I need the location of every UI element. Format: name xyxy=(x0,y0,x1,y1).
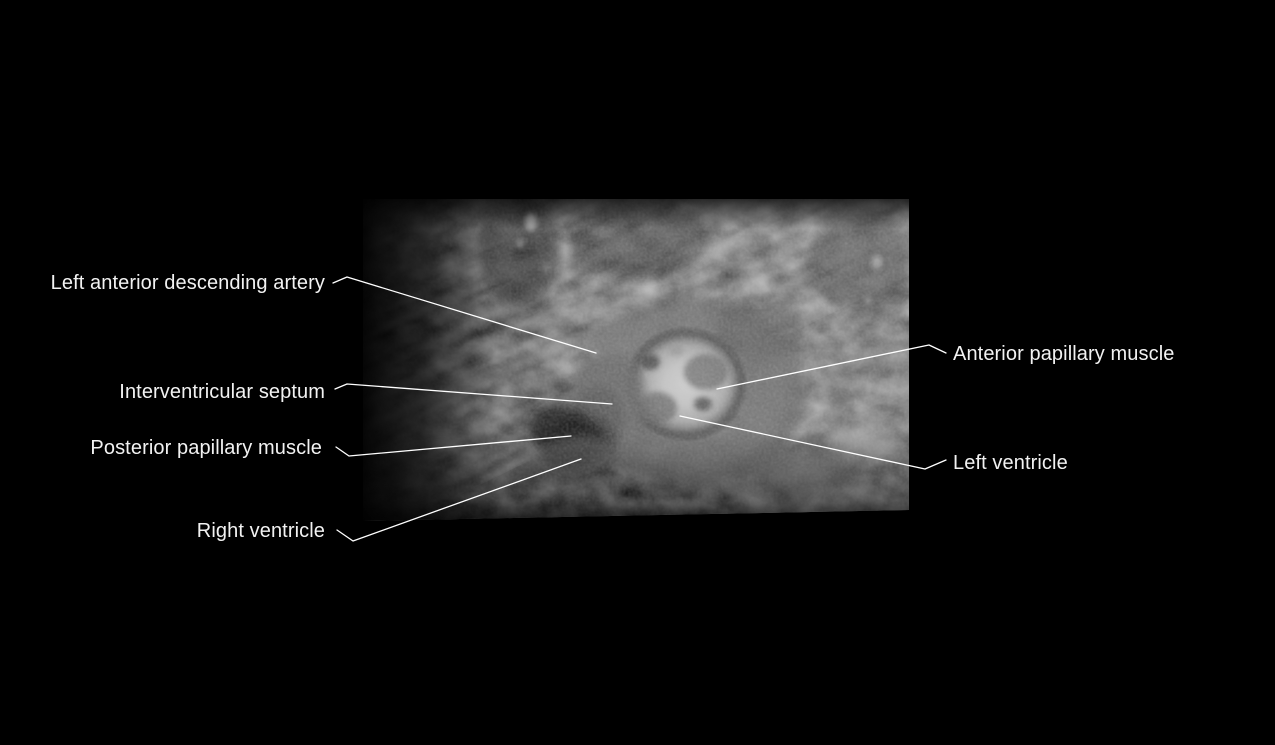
leader-line-interventricular-septum xyxy=(335,384,612,404)
label-left-ventricle: Left ventricle xyxy=(953,452,1068,474)
leader-line-left-anterior-descending-artery xyxy=(333,277,596,353)
label-right-ventricle: Right ventricle xyxy=(197,520,325,542)
leader-line-left-ventricle xyxy=(680,416,946,469)
figure-canvas: Left anterior descending artery Interven… xyxy=(0,0,1275,745)
label-interventricular-septum: Interventricular septum xyxy=(119,381,325,403)
label-anterior-papillary-muscle: Anterior papillary muscle xyxy=(953,343,1174,365)
leader-line-right-ventricle xyxy=(337,459,581,541)
annotation-leader-lines xyxy=(0,0,1275,745)
label-left-anterior-descending-artery: Left anterior descending artery xyxy=(51,272,325,294)
leader-line-posterior-papillary-muscle xyxy=(336,436,571,456)
leader-line-anterior-papillary-muscle xyxy=(717,345,946,389)
label-posterior-papillary-muscle: Posterior papillary muscle xyxy=(90,437,322,459)
